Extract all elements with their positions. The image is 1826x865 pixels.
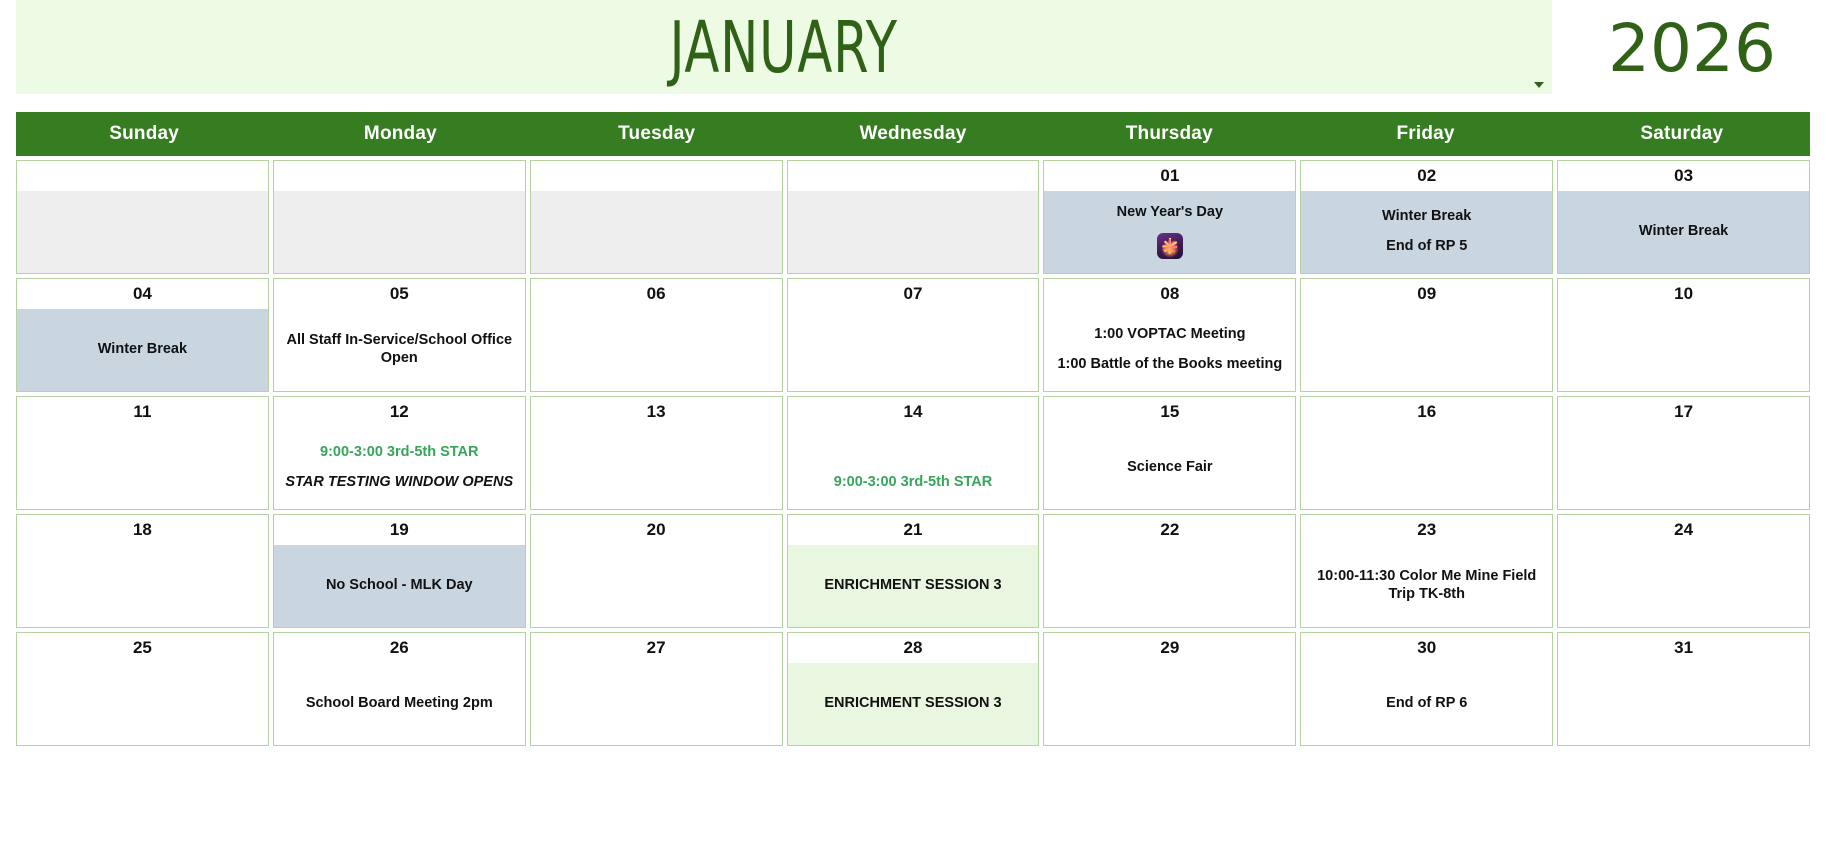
day-events: Winter BreakEnd of RP 5 — [1301, 191, 1552, 273]
day-number: 28 — [788, 633, 1039, 663]
day-cell-26[interactable]: 26School Board Meeting 2pm — [273, 632, 526, 746]
day-number: 10 — [1558, 279, 1809, 309]
event-text: 9:00-3:00 3rd-5th STAR — [834, 473, 992, 491]
day-number: 14 — [788, 397, 1039, 427]
day-number: 29 — [1044, 633, 1295, 663]
day-cell-07[interactable]: 07 — [787, 278, 1040, 392]
day-cell-20[interactable]: 20 — [530, 514, 783, 628]
day-cell-15[interactable]: 15Science Fair — [1043, 396, 1296, 510]
day-number: 06 — [531, 279, 782, 309]
day-number: 09 — [1301, 279, 1552, 309]
weekday-header-tuesday: Tuesday — [529, 112, 785, 156]
day-number: 04 — [17, 279, 268, 309]
day-cell-10[interactable]: 10 — [1557, 278, 1810, 392]
day-number — [17, 161, 268, 191]
day-number — [531, 161, 782, 191]
day-events — [1301, 309, 1552, 391]
day-number — [274, 161, 525, 191]
day-cell-19[interactable]: 19No School - MLK Day — [273, 514, 526, 628]
day-events — [1044, 663, 1295, 745]
day-cell-21[interactable]: 21ENRICHMENT SESSION 3 — [787, 514, 1040, 628]
day-number: 16 — [1301, 397, 1552, 427]
day-cell-28[interactable]: 28ENRICHMENT SESSION 3 — [787, 632, 1040, 746]
chevron-down-icon[interactable] — [1534, 82, 1544, 88]
day-number — [788, 161, 1039, 191]
event-text: ENRICHMENT SESSION 3 — [824, 576, 1001, 594]
day-number: 27 — [531, 633, 782, 663]
calendar-page: JANUARY 2026 SundayMondayTuesdayWednesda… — [0, 0, 1826, 865]
fireworks-emoji — [1157, 233, 1183, 259]
day-cell-16[interactable]: 16 — [1300, 396, 1553, 510]
day-cell-08[interactable]: 081:00 VOPTAC Meeting1:00 Battle of the … — [1043, 278, 1296, 392]
day-cell-18[interactable]: 18 — [16, 514, 269, 628]
day-events: Winter Break — [17, 309, 268, 391]
day-cell-03[interactable]: 03Winter Break — [1557, 160, 1810, 274]
day-cell-29[interactable]: 29 — [1043, 632, 1296, 746]
day-events — [274, 191, 525, 273]
day-number: 02 — [1301, 161, 1552, 191]
day-events — [788, 191, 1039, 273]
day-number: 05 — [274, 279, 525, 309]
day-events — [17, 663, 268, 745]
day-cell-14[interactable]: 14 9:00-3:00 3rd-5th STAR — [787, 396, 1040, 510]
day-cell-empty[interactable] — [787, 160, 1040, 274]
day-number: 26 — [274, 633, 525, 663]
year-label: 2026 — [1608, 0, 1776, 82]
month-title: JANUARY — [670, 12, 898, 83]
day-number: 01 — [1044, 161, 1295, 191]
day-cell-empty[interactable] — [530, 160, 783, 274]
day-events: New Year's Day — [1044, 191, 1295, 273]
day-events — [1301, 427, 1552, 509]
day-cell-31[interactable]: 31 — [1557, 632, 1810, 746]
event-text: Science Fair — [1127, 458, 1212, 476]
day-cell-12[interactable]: 129:00-3:00 3rd-5th STARSTAR TESTING WIN… — [273, 396, 526, 510]
day-events: School Board Meeting 2pm — [274, 663, 525, 745]
day-cell-17[interactable]: 17 — [1557, 396, 1810, 510]
event-text: 9:00-3:00 3rd-5th STAR — [320, 443, 478, 461]
event-text: Winter Break — [1382, 207, 1471, 225]
day-cell-09[interactable]: 09 — [1300, 278, 1553, 392]
day-events — [17, 545, 268, 627]
event-text: No School - MLK Day — [326, 576, 473, 594]
day-number: 25 — [17, 633, 268, 663]
day-events — [17, 191, 268, 273]
day-number: 23 — [1301, 515, 1552, 545]
day-number: 24 — [1558, 515, 1809, 545]
day-number: 13 — [531, 397, 782, 427]
day-events — [531, 191, 782, 273]
day-events — [17, 427, 268, 509]
calendar-grid: 01New Year's Day02Winter BreakEnd of RP … — [16, 156, 1810, 746]
day-events: End of RP 6 — [1301, 663, 1552, 745]
event-text: School Board Meeting 2pm — [306, 694, 493, 712]
day-events: Science Fair — [1044, 427, 1295, 509]
day-cell-04[interactable]: 04Winter Break — [16, 278, 269, 392]
day-events: ENRICHMENT SESSION 3 — [788, 545, 1039, 627]
weekday-header-wednesday: Wednesday — [785, 112, 1041, 156]
day-events — [1558, 663, 1809, 745]
day-number: 03 — [1558, 161, 1809, 191]
day-number: 21 — [788, 515, 1039, 545]
day-cell-13[interactable]: 13 — [530, 396, 783, 510]
weekday-header-friday: Friday — [1297, 112, 1553, 156]
day-number: 07 — [788, 279, 1039, 309]
day-events: 1:00 VOPTAC Meeting1:00 Battle of the Bo… — [1044, 309, 1295, 391]
day-events — [531, 545, 782, 627]
day-cell-06[interactable]: 06 — [530, 278, 783, 392]
weekday-header-row: SundayMondayTuesdayWednesdayThursdayFrid… — [16, 112, 1810, 156]
weekday-header-monday: Monday — [272, 112, 528, 156]
day-events: No School - MLK Day — [274, 545, 525, 627]
event-text: Winter Break — [98, 340, 187, 358]
day-cell-01[interactable]: 01New Year's Day — [1043, 160, 1296, 274]
event-text: 1:00 Battle of the Books meeting — [1057, 355, 1282, 373]
day-events: Winter Break — [1558, 191, 1809, 273]
month-banner[interactable]: JANUARY — [16, 0, 1552, 94]
day-cell-23[interactable]: 2310:00-11:30 Color Me Mine Field Trip T… — [1300, 514, 1553, 628]
day-events: All Staff In-Service/School Office Open — [274, 309, 525, 391]
day-cell-24[interactable]: 24 — [1557, 514, 1810, 628]
day-cell-27[interactable]: 27 — [530, 632, 783, 746]
day-events — [531, 427, 782, 509]
day-events — [531, 309, 782, 391]
day-cell-empty[interactable] — [16, 160, 269, 274]
day-number: 30 — [1301, 633, 1552, 663]
day-events — [1558, 545, 1809, 627]
day-number: 18 — [17, 515, 268, 545]
event-text: End of RP 6 — [1386, 694, 1467, 712]
event-text: Winter Break — [1639, 222, 1728, 240]
day-events — [1558, 427, 1809, 509]
day-number: 08 — [1044, 279, 1295, 309]
day-number: 31 — [1558, 633, 1809, 663]
day-cell-11[interactable]: 11 — [16, 396, 269, 510]
day-number: 22 — [1044, 515, 1295, 545]
day-number: 20 — [531, 515, 782, 545]
day-cell-empty[interactable] — [273, 160, 526, 274]
day-cell-25[interactable]: 25 — [16, 632, 269, 746]
day-events — [531, 663, 782, 745]
day-cell-30[interactable]: 30End of RP 6 — [1300, 632, 1553, 746]
day-events — [788, 309, 1039, 391]
day-events: ENRICHMENT SESSION 3 — [788, 663, 1039, 745]
day-cell-05[interactable]: 05All Staff In-Service/School Office Ope… — [273, 278, 526, 392]
day-number: 12 — [274, 397, 525, 427]
day-number: 11 — [17, 397, 268, 427]
day-events — [1044, 545, 1295, 627]
weekday-header-sunday: Sunday — [16, 112, 272, 156]
weekday-header-thursday: Thursday — [1041, 112, 1297, 156]
event-text: All Staff In-Service/School Office Open — [280, 331, 519, 367]
weekday-header-saturday: Saturday — [1554, 112, 1810, 156]
day-events: 9:00-3:00 3rd-5th STAR — [788, 427, 1039, 509]
event-text: New Year's Day — [1117, 203, 1223, 221]
day-cell-22[interactable]: 22 — [1043, 514, 1296, 628]
event-text: STAR TESTING WINDOW OPENS — [285, 473, 513, 491]
day-events: 9:00-3:00 3rd-5th STARSTAR TESTING WINDO… — [274, 427, 525, 509]
day-events: 10:00-11:30 Color Me Mine Field Trip TK-… — [1301, 545, 1552, 627]
day-cell-02[interactable]: 02Winter BreakEnd of RP 5 — [1300, 160, 1553, 274]
day-number: 19 — [274, 515, 525, 545]
event-text: 10:00-11:30 Color Me Mine Field Trip TK-… — [1307, 567, 1546, 603]
event-text: End of RP 5 — [1386, 237, 1467, 255]
day-number: 17 — [1558, 397, 1809, 427]
day-number: 15 — [1044, 397, 1295, 427]
event-text: 1:00 VOPTAC Meeting — [1094, 325, 1245, 343]
event-text: ENRICHMENT SESSION 3 — [824, 694, 1001, 712]
day-events — [1558, 309, 1809, 391]
calendar-header: JANUARY 2026 — [0, 0, 1826, 112]
